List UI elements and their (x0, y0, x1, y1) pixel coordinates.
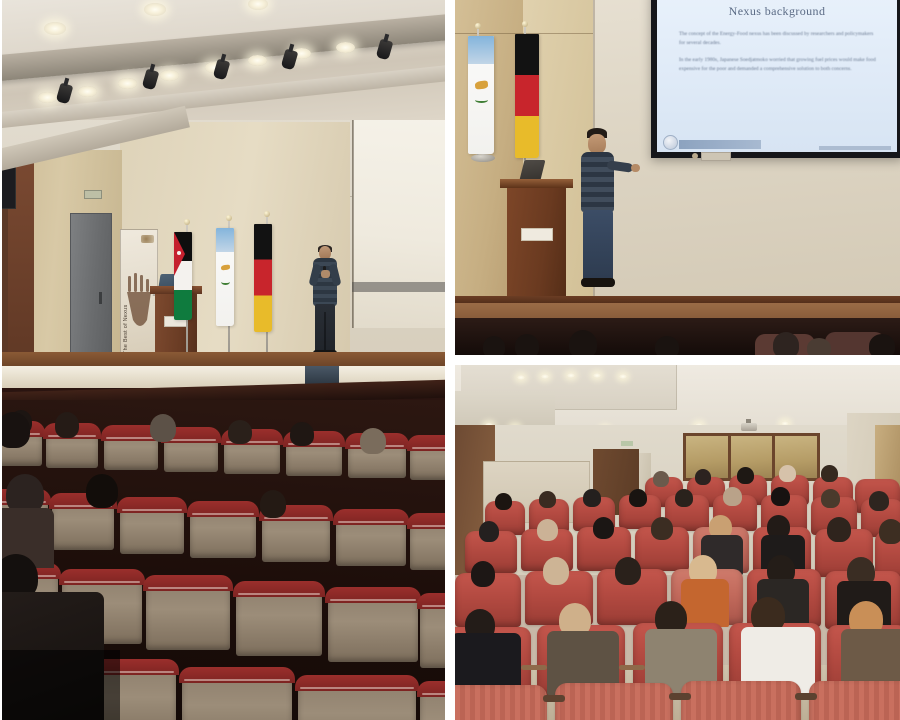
photo-seats-back (0, 366, 445, 720)
slide-credit-line (819, 146, 891, 150)
flag-stand (471, 154, 495, 162)
projection-screen: Nexus background The concept of the Ener… (651, 0, 900, 158)
podium-name-plate (521, 228, 553, 241)
downlight-icon (38, 92, 57, 103)
attendee-head (821, 489, 840, 508)
seat (410, 440, 445, 480)
flag-cyprus-island (475, 80, 489, 89)
flag-cyprus (468, 36, 494, 154)
flag-cyprus-top (468, 36, 494, 64)
presentation-slide: Nexus background The concept of the Ener… (657, 0, 897, 152)
projection-screen-right (352, 96, 445, 328)
presenter-hand (631, 164, 640, 172)
downlight-icon (248, 0, 268, 10)
aisle-shadow (0, 650, 120, 720)
attendee-head (879, 519, 900, 544)
flag-cyprus (216, 228, 234, 326)
hall-ceiling (0, 0, 445, 120)
downlight-icon (517, 375, 525, 380)
downlight-icon (44, 22, 66, 35)
banner-logo-icon (141, 235, 154, 243)
presenter-figure (577, 130, 619, 302)
attendee-head (569, 330, 597, 355)
armrest (543, 695, 565, 702)
armrest (669, 693, 691, 700)
attendee-head (539, 491, 556, 508)
seat (420, 686, 445, 720)
armrest (521, 665, 547, 670)
armrest (795, 693, 817, 700)
attendee-head (360, 428, 386, 454)
flag-jordan (174, 232, 192, 320)
photo-collage: The Best of Nexus (0, 0, 900, 720)
seat (190, 506, 256, 558)
flag-cyprus-island (221, 265, 230, 271)
attendee-head (537, 519, 558, 541)
attendee-head (543, 557, 569, 585)
institution-logo-icon (663, 135, 678, 150)
flag-jordan-star (177, 251, 181, 255)
attendee-head (695, 469, 711, 485)
slide-paragraph-1: The concept of the Energy-Food nexus has… (679, 30, 877, 49)
downlight-icon (336, 42, 355, 53)
downlight-icon (144, 3, 166, 16)
downlight-icon (567, 373, 575, 378)
attendee-head (869, 334, 895, 355)
exit-sign (621, 441, 633, 446)
attendee-head (773, 332, 799, 355)
attendee-head (260, 490, 286, 518)
seat (146, 580, 230, 650)
photo-audience (455, 365, 900, 720)
seat (182, 672, 292, 720)
collage-gutter-vertical (445, 0, 455, 720)
photo-hall-wide: The Best of Nexus (0, 0, 445, 366)
attendee-head (55, 412, 79, 438)
seat (104, 430, 158, 470)
seat-foreground (555, 683, 673, 720)
seat (336, 514, 406, 566)
downlight-icon (248, 55, 267, 66)
downlight-icon (78, 86, 97, 97)
presenter-legs (583, 210, 613, 282)
slide-paragraph-2: In the early 1980s, Japanese Soedjatmoko… (679, 56, 877, 75)
attendee-head (807, 338, 831, 355)
screen-lower-strip (352, 282, 445, 292)
presenter-legs (315, 304, 335, 352)
seat (298, 680, 416, 720)
attendee-head (483, 336, 505, 355)
attendee-head (615, 557, 641, 585)
attendee-head (675, 489, 693, 507)
ceiling-coffer-2 (455, 391, 555, 429)
attendee-head (737, 467, 754, 484)
attendee-head (150, 414, 176, 442)
seat-foreground (809, 681, 900, 720)
podium (507, 186, 566, 306)
downlight-icon (118, 78, 137, 89)
seat-row (0, 418, 445, 480)
attendee-head (515, 334, 539, 355)
banner-vertical-text: The Best of Nexus (123, 270, 132, 354)
presenter-hands (321, 270, 330, 278)
attendee-head (290, 422, 314, 446)
track-light-icon (142, 69, 160, 91)
attendee-head (479, 521, 499, 542)
downlight-icon (160, 70, 179, 81)
seat (236, 586, 322, 656)
attendee-head (821, 465, 838, 482)
armrest (619, 665, 645, 670)
presenter-shoes (581, 278, 615, 287)
flag-cyprus-branches (475, 97, 488, 103)
attendee-head (869, 491, 889, 511)
attendee-head (471, 561, 495, 587)
slide-footer (657, 137, 897, 152)
collage-gutter-horizontal (455, 355, 900, 365)
seat (120, 502, 184, 554)
flag-germany (254, 224, 272, 332)
exit-door (70, 213, 112, 366)
collage-left-edge (0, 0, 2, 720)
attendee-head (651, 517, 673, 540)
seat-row (0, 484, 445, 546)
attendee-head (653, 471, 669, 487)
slide-title: Nexus background (657, 4, 897, 19)
audience-silhouettes (455, 318, 900, 355)
attendee-head (0, 412, 30, 448)
ceiling-projector (741, 423, 757, 431)
institution-logo-wordmark (679, 140, 761, 149)
flag-cyprus-top (216, 228, 234, 252)
attendee-head (771, 487, 790, 506)
attendee-head (723, 487, 742, 506)
flag-cyprus-branches (221, 279, 230, 285)
photo-presenter: Nexus background The concept of the Ener… (455, 0, 900, 355)
wall-outlet (701, 152, 731, 161)
attendee-head (779, 465, 796, 482)
stage-floor (0, 352, 445, 366)
presenter-figure (311, 246, 339, 356)
downlight-icon (593, 373, 601, 378)
attendee-head (228, 420, 252, 444)
attendee-head (827, 517, 851, 542)
attendee-head (86, 474, 118, 508)
screen-edge (352, 96, 354, 328)
flag-germany (515, 34, 539, 158)
seat-foreground (455, 685, 547, 720)
attendee-head (583, 489, 601, 507)
seat-foreground (681, 681, 801, 720)
track-light-icon (56, 83, 74, 105)
attendee-head (655, 336, 679, 355)
exit-sign (84, 190, 102, 199)
downlight-icon (541, 374, 549, 379)
downlight-icon (619, 374, 627, 379)
attendee-head (629, 489, 647, 507)
attendee-head (495, 493, 512, 510)
presenter-head (588, 134, 606, 154)
attendee-head (593, 517, 614, 539)
attendee-body (681, 579, 729, 627)
